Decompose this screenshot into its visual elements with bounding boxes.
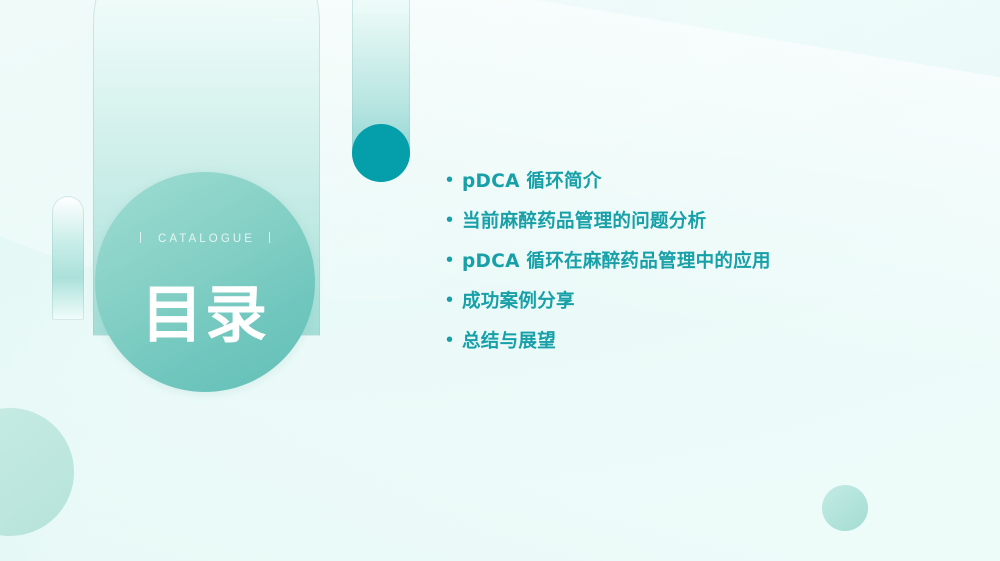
catalogue-circle: CATALOGUE 目录 — [95, 172, 315, 392]
agenda-item-label: 成功案例分享 — [462, 287, 575, 313]
agenda-list: • pDCA 循环简介 • 当前麻醉药品管理的问题分析 • pDCA 循环在麻醉… — [446, 160, 946, 360]
decorative-circle-bottom-right — [822, 485, 868, 531]
catalogue-eyebrow-text: CATALOGUE — [158, 233, 255, 245]
decorative-dot-teal — [352, 124, 410, 182]
list-item[interactable]: • 当前麻醉药品管理的问题分析 — [446, 200, 946, 240]
list-item[interactable]: • 成功案例分享 — [446, 280, 946, 320]
slide-canvas: CATALOGUE 目录 • pDCA 循环简介 • 当前麻醉药品管理的问题分析… — [0, 0, 1000, 561]
agenda-item-label: 当前麻醉药品管理的问题分析 — [462, 207, 706, 233]
agenda-item-label: 总结与展望 — [462, 327, 556, 353]
bullet-icon: • — [446, 290, 462, 310]
tick-right-icon — [269, 232, 270, 243]
tick-left-icon — [140, 232, 141, 243]
catalogue-title: 目录 — [95, 284, 315, 346]
list-item[interactable]: • 总结与展望 — [446, 320, 946, 360]
decorative-capsule-small — [52, 196, 84, 320]
bullet-icon: • — [446, 250, 462, 270]
agenda-item-label: pDCA 循环在麻醉药品管理中的应用 — [462, 247, 771, 273]
catalogue-eyebrow: CATALOGUE — [95, 232, 315, 245]
agenda-item-label: pDCA 循环简介 — [462, 167, 602, 193]
bullet-icon: • — [446, 330, 462, 350]
bullet-icon: • — [446, 170, 462, 190]
list-item[interactable]: • pDCA 循环简介 — [446, 160, 946, 200]
list-item[interactable]: • pDCA 循环在麻醉药品管理中的应用 — [446, 240, 946, 280]
bullet-icon: • — [446, 210, 462, 230]
